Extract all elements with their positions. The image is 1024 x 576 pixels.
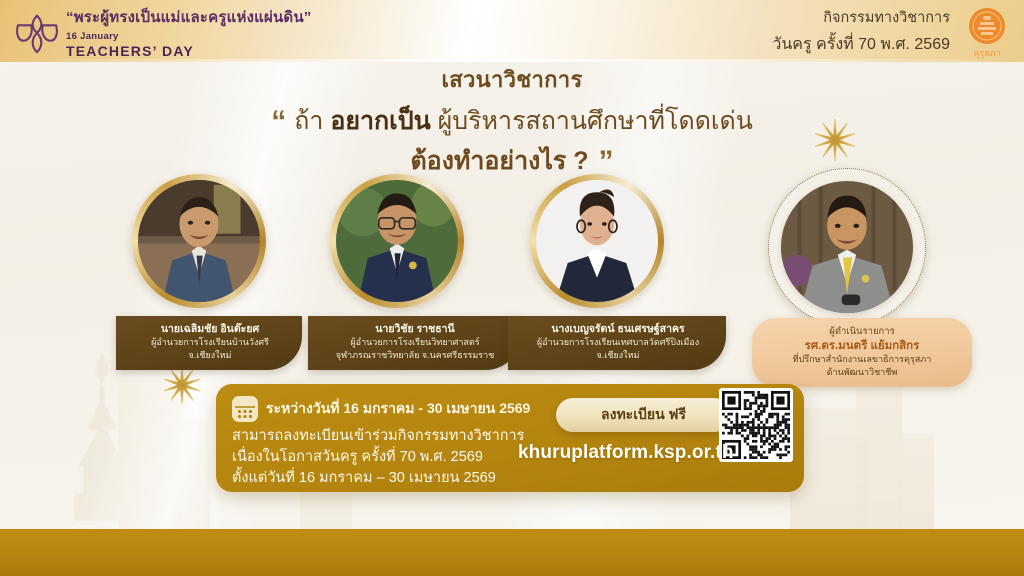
title-block: เสวนาวิชาการ “ถ้า อยากเป็น ผู้บริหารสถาน… (0, 62, 1024, 180)
panel-body-line2: เนื่องในโอกาสวันครู ครั้งที่ 70 พ.ศ. 256… (232, 447, 524, 468)
speaker-portrait-image-2 (336, 180, 458, 302)
speaker-role-2-line2: จุฬาภรณราชวิทยาลัย จ.นครศรีธรรมราช (320, 350, 510, 362)
panel-body-line3: ตั้งแต่วันที่ 16 มกราคม – 30 เมษายน 2569 (232, 468, 524, 489)
orchid-logo-icon (8, 10, 66, 56)
svg-text:คุรุสภา: คุรุสภา (973, 48, 1000, 59)
royal-quote: “พระผู้ทรงเป็นแม่และครูแห่งแผ่นดิน” (66, 5, 312, 29)
title-line2-c: ผู้บริหารสถานศึกษาที่โดดเด่น (438, 107, 753, 135)
calendar-icon (232, 396, 258, 422)
speakers-row: นายเฉลิมชัย อินต๊ะยศ ผู้อำนวยการโรงเรียน… (0, 168, 1024, 383)
speaker-portrait-image-3 (536, 180, 658, 302)
header-activity-line: กิจกรรมทางวิชาการ (772, 6, 950, 29)
speaker-plate-1: นายเฉลิมชัย อินต๊ะยศ ผู้อำนวยการโรงเรียน… (116, 316, 302, 370)
speaker-role-1-line1: ผู้อำนวยการโรงเรียนบ้านวังศรี (128, 337, 292, 349)
speaker-portrait-3 (530, 174, 664, 308)
host-portrait (768, 168, 926, 326)
speaker-role-1-line2: จ.เชียงใหม่ (128, 350, 292, 362)
speaker-name-2: นายวิชัย ราชธานี (320, 323, 510, 336)
header-date-label: 16 January (66, 31, 312, 42)
speaker-plate-2: นายวิชัย ราชธานี ผู้อำนวยการโรงเรียนวิทย… (308, 316, 520, 370)
host-plate: ผู้ดำเนินรายการ รศ.ดร.มนตรี แย้มกสิกร ที… (752, 318, 972, 387)
host-portrait-image (781, 181, 913, 313)
host-role-line2: ด้านพัฒนาวิชาชีพ (764, 367, 960, 379)
speaker-portrait-1 (132, 174, 266, 308)
host-role-top: ผู้ดำเนินรายการ (764, 324, 960, 339)
speaker-name-3: นางเบญจรัตน์ ธนเศรษฐ์สาคร (520, 323, 716, 336)
panel-body-line1: สามารถลงทะเบียนเข้าร่วมกิจกรรมทางวิชาการ (232, 426, 524, 447)
speaker-plate-3: นางเบญจรัตน์ ธนเศรษฐ์สาคร ผู้อำนวยการโรง… (508, 316, 726, 370)
panel-date-range: ระหว่างวันที่ 16 มกราคม - 30 เมษายน 2569 (266, 398, 530, 420)
title-line2-b: อยากเป็น (330, 107, 437, 135)
title-line2-a: ถ้า (294, 107, 330, 135)
host-name: รศ.ดร.มนตรี แย้มกสิกร (764, 339, 960, 353)
header-right-text: กิจกรรมทางวิชาการ วันครู ครั้งที่ 70 พ.ศ… (772, 6, 950, 57)
header-edition-line: วันครู ครั้งที่ 70 พ.ศ. 2569 (772, 32, 950, 57)
poster-canvas: “พระผู้ทรงเป็นแม่และครูแห่งแผ่นดิน” 16 J… (0, 0, 1024, 576)
title-kicker: เสวนาวิชาการ (0, 62, 1024, 97)
speaker-portrait-image-1 (138, 180, 260, 302)
register-button[interactable]: ลงทะเบียน ฟรี (556, 398, 731, 432)
host-role-line1: ที่ปรึกษาสำนักงานเลขาธิการคุรุสภา (764, 354, 960, 366)
title-line-2: “ถ้า อยากเป็น ผู้บริหารสถานศึกษาที่โดดเด… (0, 103, 1024, 141)
speaker-role-2-line1: ผู้อำนวยการโรงเรียนวิทยาศาสตร์ (320, 337, 510, 349)
speaker-card-3[interactable]: นางเบญจรัตน์ ธนเศรษฐ์สาคร ผู้อำนวยการโรง… (530, 174, 664, 308)
speaker-role-3-line1: ผู้อำนวยการโรงเรียนเทศบาลวัดศรีปิงเมือง (520, 337, 716, 349)
header-left-text: “พระผู้ทรงเป็นแม่และครูแห่งแผ่นดิน” 16 J… (66, 5, 312, 59)
registration-url[interactable]: khuruplatform.ksp.or.th (518, 442, 734, 464)
host-card[interactable]: ผู้ดำเนินรายการ รศ.ดร.มนตรี แย้มกสิกร ที… (768, 168, 926, 326)
speaker-portrait-2 (330, 174, 464, 308)
panel-body-text: สามารถลงทะเบียนเข้าร่วมกิจกรรมทางวิชาการ… (232, 426, 524, 489)
bottom-gold-bar (0, 529, 1024, 576)
quote-open-icon: “ (271, 105, 286, 138)
starburst-decor-right (813, 118, 857, 162)
registration-panel: ระหว่างวันที่ 16 มกราคม - 30 เมษายน 2569… (216, 384, 804, 492)
speaker-card-1[interactable]: นายเฉลิมชัย อินต๊ะยศ ผู้อำนวยการโรงเรียน… (132, 174, 266, 308)
register-button-label: ลงทะเบียน ฟรี (601, 404, 686, 426)
khurusapha-seal-icon: คุรุสภา (956, 4, 1018, 60)
speaker-role-3-line2: จ.เชียงใหม่ (520, 350, 716, 362)
speaker-name-1: นายเฉลิมชัย อินต๊ะยศ (128, 323, 292, 336)
header-teachers-day: TEACHERS’ DAY (66, 43, 312, 59)
speaker-card-2[interactable]: นายวิชัย ราชธานี ผู้อำนวยการโรงเรียนวิทย… (330, 174, 464, 308)
header-band: “พระผู้ทรงเป็นแม่และครูแห่งแผ่นดิน” 16 J… (0, 0, 1024, 62)
